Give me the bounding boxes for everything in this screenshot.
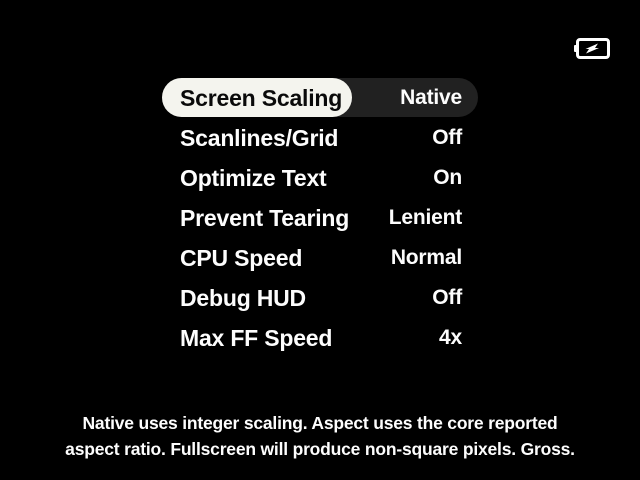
menu-row-cpu-speed[interactable]: CPU Speed Normal bbox=[0, 238, 640, 278]
menu-row-value[interactable]: 4x bbox=[300, 326, 462, 350]
menu-row-max-ff-speed[interactable]: Max FF Speed 4x bbox=[0, 318, 640, 358]
menu-row-scanlines-grid[interactable]: Scanlines/Grid Off bbox=[0, 118, 640, 158]
menu-row-debug-hud[interactable]: Debug HUD Off bbox=[0, 278, 640, 318]
menu-row-label: CPU Speed bbox=[180, 245, 302, 272]
help-text-line-1: Native uses integer scaling. Aspect uses… bbox=[0, 410, 640, 436]
help-text-line-2: aspect ratio. Fullscreen will produce no… bbox=[0, 436, 640, 462]
help-text: Native uses integer scaling. Aspect uses… bbox=[0, 410, 640, 462]
menu-row-value[interactable]: On bbox=[300, 166, 462, 190]
status-bar bbox=[0, 0, 640, 70]
battery-charging-icon bbox=[574, 38, 610, 59]
menu-row-optimize-text[interactable]: Optimize Text On bbox=[0, 158, 640, 198]
menu-row-value[interactable]: Normal bbox=[300, 246, 462, 270]
menu-row-value[interactable]: Off bbox=[300, 286, 462, 310]
menu-row-value[interactable]: Native bbox=[300, 86, 462, 110]
menu-row-label: Debug HUD bbox=[180, 285, 306, 312]
menu-row-value[interactable]: Lenient bbox=[300, 206, 462, 230]
menu-row-prevent-tearing[interactable]: Prevent Tearing Lenient bbox=[0, 198, 640, 238]
menu-row-value[interactable]: Off bbox=[300, 126, 462, 150]
settings-menu[interactable]: Screen Scaling Native Scanlines/Grid Off… bbox=[0, 78, 640, 358]
menu-row-screen-scaling[interactable]: Screen Scaling Native bbox=[0, 78, 640, 118]
